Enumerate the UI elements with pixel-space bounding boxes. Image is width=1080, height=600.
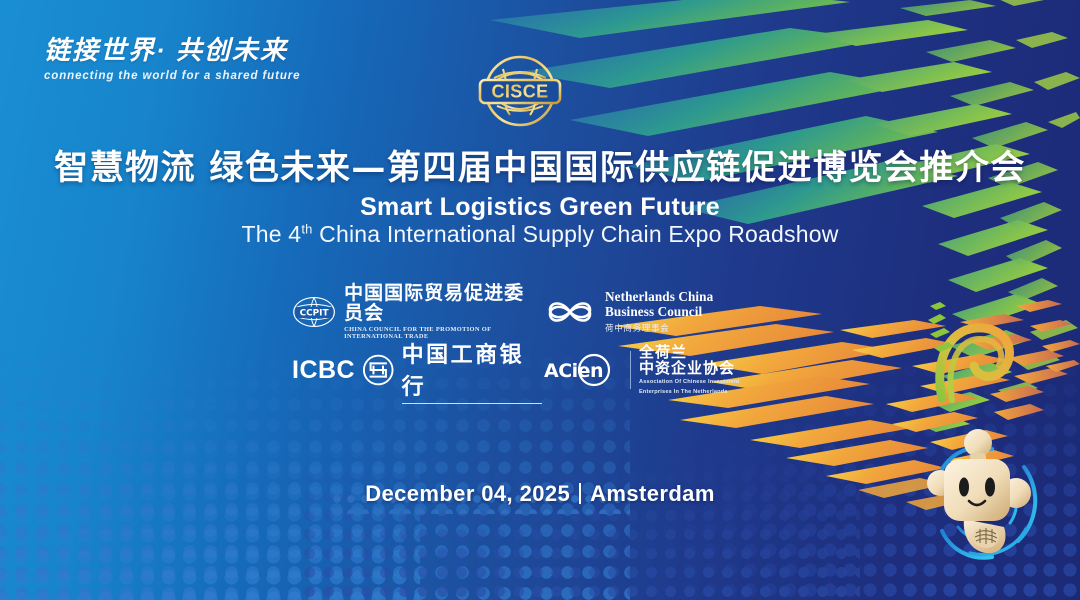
acien-english-line1: Association Of Chinese Investment (639, 379, 739, 387)
acien-divider (630, 351, 631, 389)
acien-chinese-line2: 中资企业协会 (639, 360, 739, 377)
sponsor-row-2: ICBC 中国工商银行 ACien (292, 346, 752, 394)
sponsor-acien: ACien 全荷兰 中资企业协会 Association Of Chinese … (542, 344, 752, 397)
icbc-chinese-name: 中国工商银行 (402, 337, 542, 404)
sponsor-ccpit: CCPIT 中国国际贸易促进委员会 CHINA COUNCIL FOR THE … (292, 284, 542, 341)
cisce-logo-text: CISCE (491, 81, 548, 101)
edition-ordinal: th (301, 221, 312, 236)
poster-title-chinese: 智慧物流 绿色未来—第四届中国国际供应链促进博览会推介会 (0, 140, 1080, 189)
poster-title-english-sub: The 4th China International Supply Chain… (0, 221, 1080, 248)
icbc-abbr: ICBC (292, 356, 355, 385)
ncbc-chinese-name: 荷中商务理事会 (605, 322, 713, 334)
slogan-english: connecting the world for a shared future (44, 70, 344, 82)
poster-canvas: 链接世界· 共创未来 connecting the world for a sh… (0, 0, 1080, 600)
cisce-logo-icon: CISCE (470, 46, 570, 136)
sponsor-ncbc: Netherlands China Business Council 荷中商务理… (542, 290, 752, 335)
halftone-dots-bottom-left-dense (0, 420, 420, 600)
ccpit-chinese-name: 中国国际贸易促进委员会 (344, 284, 542, 324)
acien-chinese-line1: 全荷兰 (639, 344, 739, 361)
sponsor-logo-group: CCPIT 中国国际贸易促进委员会 CHINA COUNCIL FOR THE … (292, 286, 752, 394)
acien-english-line2: Enterprises In The Netherlands (639, 389, 739, 397)
icbc-emblem-icon (362, 353, 394, 387)
ccpit-globe-icon: CCPIT (292, 292, 336, 332)
edition-suffix: China International Supply Chain Expo Ro… (313, 221, 839, 247)
sponsor-icbc: ICBC 中国工商银行 (292, 337, 542, 404)
ncbc-knot-icon (542, 290, 598, 334)
acien-abbr-text: ACien (544, 360, 603, 382)
slogan-chinese: 链接世界· 共创未来 (44, 36, 344, 65)
ribbon-hook-graphic (920, 300, 1040, 410)
halftone-dots-bottom-center (300, 430, 860, 600)
sponsor-row-1: CCPIT 中国国际贸易促进委员会 CHINA COUNCIL FOR THE … (292, 286, 752, 338)
ncbc-name-line2: Business Council (605, 305, 713, 320)
slogan-block: 链接世界· 共创未来 connecting the world for a sh… (44, 36, 344, 82)
event-city: Amsterdam (590, 481, 715, 506)
date-city-separator (579, 483, 581, 504)
edition-prefix: The 4 (241, 221, 301, 247)
ncbc-name-line1: Netherlands China (605, 290, 713, 305)
acien-wordmark-icon: ACien (542, 353, 622, 387)
ccpit-abbr-text: CCPIT (300, 309, 330, 319)
event-date: December 04, 2025 (365, 481, 570, 506)
poster-title-english-main: Smart Logistics Green Future (0, 193, 1080, 222)
cisce-mascot-robot (900, 415, 1060, 590)
